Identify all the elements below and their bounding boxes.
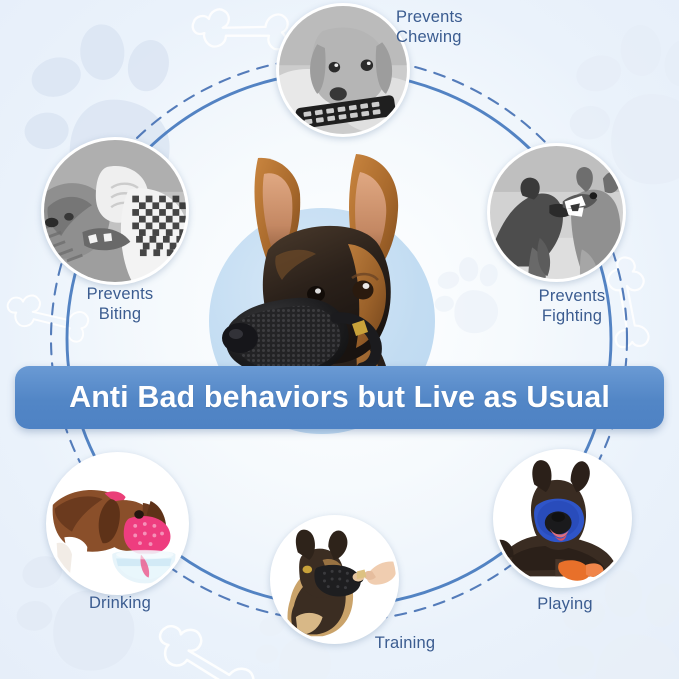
label-playing: Playing xyxy=(490,594,640,614)
node-chewing[interactable] xyxy=(276,3,410,137)
label-biting: Prevents Biting xyxy=(45,284,195,324)
label-chewing: Prevents Chewing xyxy=(396,7,546,47)
node-fighting[interactable] xyxy=(487,143,626,282)
infographic-canvas: Prevents Chewing Prevents Fighting xyxy=(0,0,679,679)
playing-photo xyxy=(496,452,629,585)
headline-banner: Anti Bad behaviors but Live as Usual xyxy=(15,366,664,429)
label-fighting: Prevents Fighting xyxy=(492,286,652,326)
label-training: Training xyxy=(330,633,480,653)
drinking-photo xyxy=(49,455,186,592)
node-playing[interactable] xyxy=(493,449,632,588)
label-drinking: Drinking xyxy=(40,593,200,613)
headline-text: Anti Bad behaviors but Live as Usual xyxy=(69,380,610,415)
node-drinking[interactable] xyxy=(46,452,189,595)
node-biting[interactable] xyxy=(41,137,189,285)
training-photo xyxy=(273,518,396,641)
chewing-photo xyxy=(279,6,407,134)
node-training[interactable] xyxy=(270,515,399,644)
biting-photo xyxy=(44,140,186,282)
fighting-photo xyxy=(490,146,623,279)
